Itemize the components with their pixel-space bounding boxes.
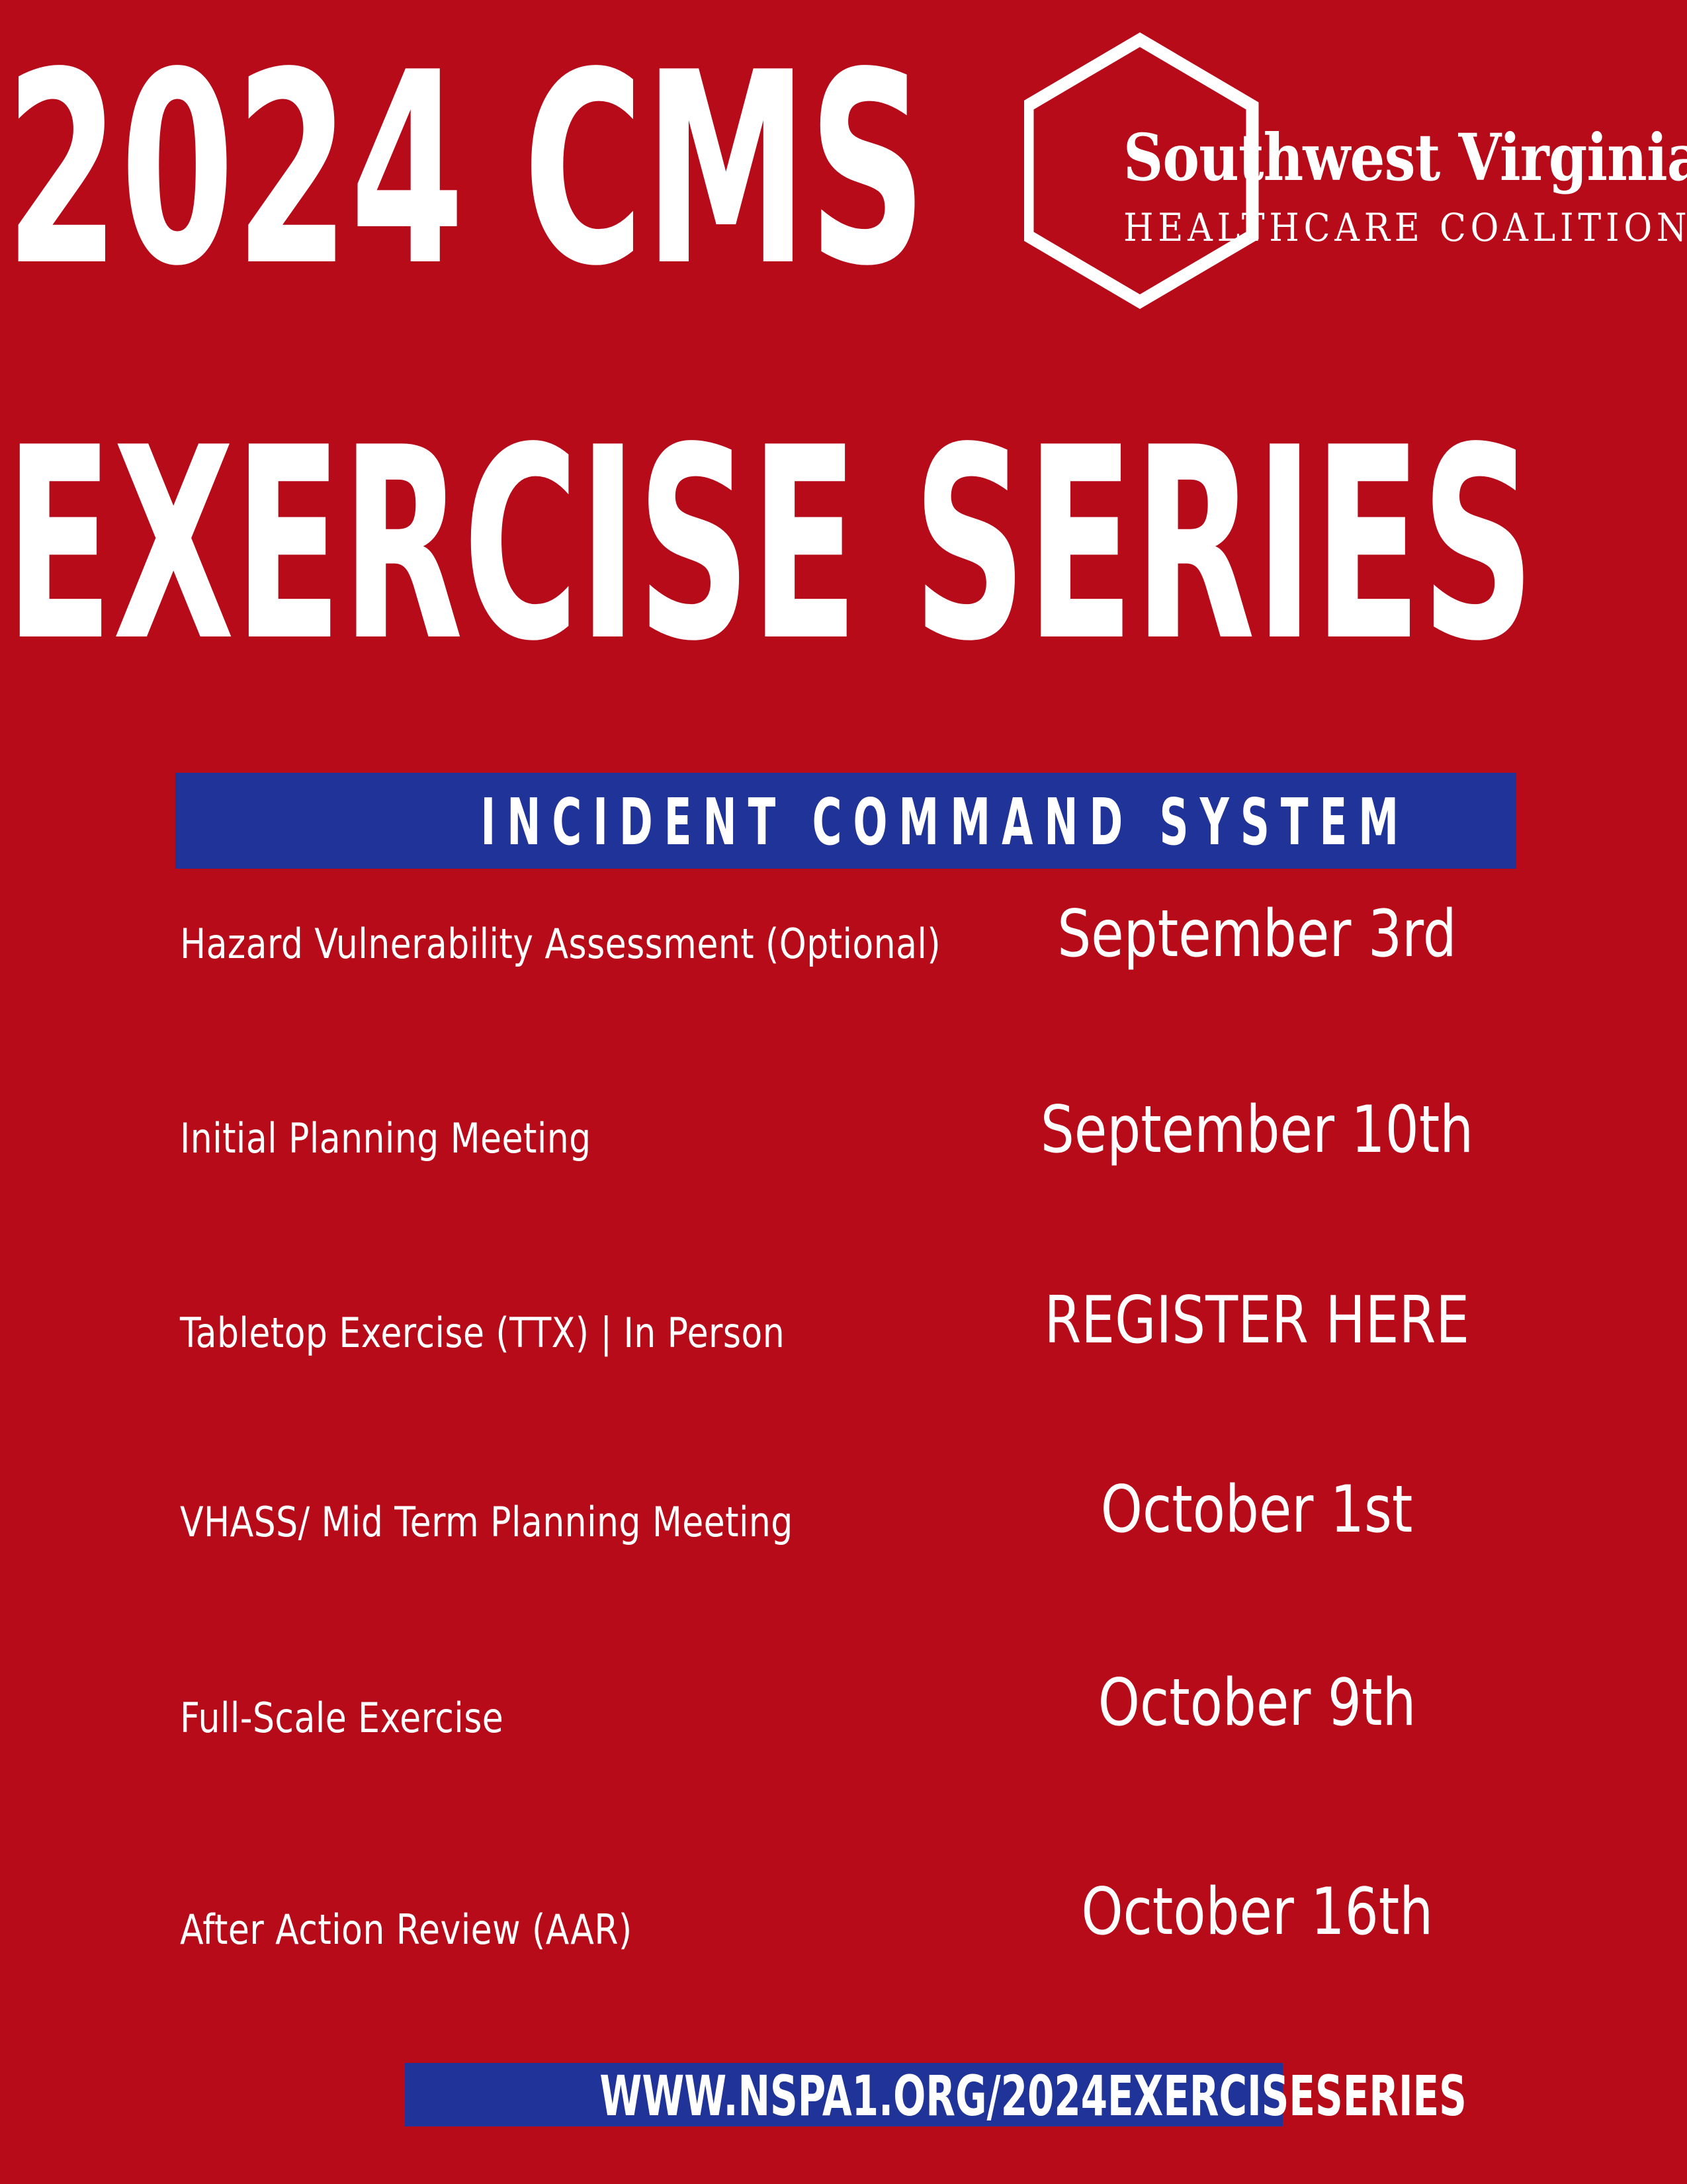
logo-text-block: Southwest Virginia HEALTHCARE COALITION <box>1123 123 1679 250</box>
website-url-text: WWW.NSPA1.ORG/2024EXERCISESERIES <box>599 2063 1466 2129</box>
schedule-row-label: Full-Scale Exercise <box>180 1694 847 1743</box>
schedule-row-date-text: October 16th <box>1081 1875 1433 1949</box>
website-url-label: WWW.NSPA1.ORG/2024EXERCISESERIES <box>405 2063 1283 2126</box>
schedule-row: VHASS/ Mid Term Planning Meeting October… <box>0 1482 1687 1674</box>
schedule-row-label: Hazard Vulnerability Assessment (Optiona… <box>180 920 847 969</box>
schedule-row-date-text: October 9th <box>1098 1666 1416 1740</box>
schedule-row-date: September 3rd <box>959 897 1555 971</box>
poster-canvas: 2024 CMS EXERCISE SERIES Southwest Virgi… <box>0 0 1687 2184</box>
schedule-row-date-text: September 3rd <box>1057 897 1456 971</box>
logo-name: Southwest Virginia <box>1123 123 1601 192</box>
schedule-row: Initial Planning Meeting September 10th <box>0 1098 1687 1290</box>
schedule-row-date-text: September 10th <box>1041 1093 1473 1167</box>
schedule-row-date: October 1st <box>959 1473 1555 1547</box>
poster-title-line-2: EXERCISE SERIES <box>5 390 1013 701</box>
schedule-row: Hazard Vulnerability Assessment (Optiona… <box>0 906 1687 1098</box>
schedule-list: Hazard Vulnerability Assessment (Optiona… <box>0 906 1687 2058</box>
schedule-row-date: October 9th <box>959 1666 1555 1740</box>
schedule-row-date: October 16th <box>959 1875 1555 1949</box>
section-banner-label: INCIDENT COMMAND SYSTEM <box>175 773 1516 869</box>
schedule-row-date: September 10th <box>959 1093 1555 1167</box>
logo-subtitle: HEALTHCARE COALITION <box>1123 205 1623 250</box>
schedule-row: Full-Scale Exercise October 9th <box>0 1674 1687 1866</box>
schedule-row-label: VHASS/ Mid Term Planning Meeting <box>180 1498 847 1547</box>
poster-title-line-1: 2024 CMS <box>5 12 592 329</box>
schedule-row-date-text: October 1st <box>1101 1473 1413 1547</box>
schedule-row: Tabletop Exercise (TTX) | In Person REGI… <box>0 1290 1687 1482</box>
coalition-logo: Southwest Virginia HEALTHCARE COALITION <box>1024 32 1686 310</box>
section-banner: INCIDENT COMMAND SYSTEM <box>175 773 1516 869</box>
schedule-row: After Action Review (AAR) October 16th <box>0 1866 1687 2058</box>
website-url-banner[interactable]: WWW.NSPA1.ORG/2024EXERCISESERIES <box>405 2063 1283 2126</box>
schedule-row-label: After Action Review (AAR) <box>180 1905 847 1954</box>
register-here-text: REGISTER HERE <box>1045 1284 1470 1358</box>
schedule-row-label: Initial Planning Meeting <box>180 1114 847 1163</box>
section-banner-text: INCIDENT COMMAND SYSTEM <box>469 773 1410 872</box>
schedule-row-label: Tabletop Exercise (TTX) | In Person <box>180 1309 847 1358</box>
register-here-link[interactable]: REGISTER HERE <box>959 1284 1555 1358</box>
